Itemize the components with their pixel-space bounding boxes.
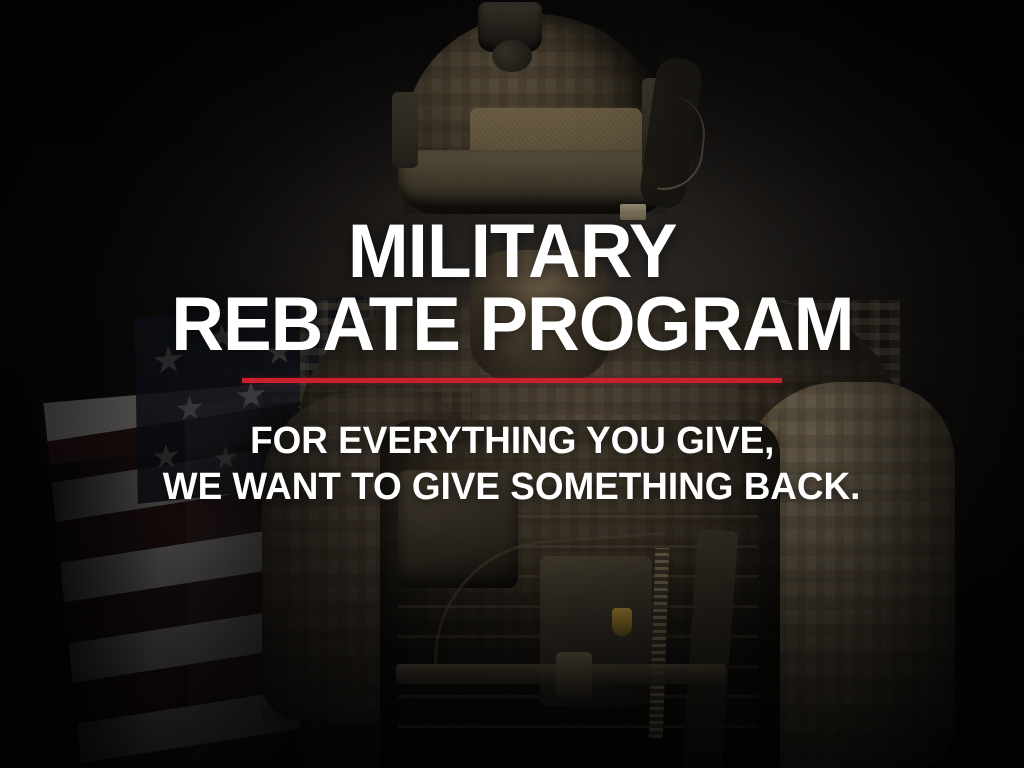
red-divider-rule — [242, 378, 782, 383]
headline-line-1: MILITARY — [348, 216, 677, 289]
headline-line-2: REBATE PROGRAM — [171, 289, 853, 362]
subheadline-line-2: WE WANT TO GIVE SOMETHING BACK. — [163, 465, 861, 509]
military-rebate-banner: MILITARY REBATE PROGRAM FOR EVERYTHING Y… — [0, 0, 1024, 768]
subheadline-line-1: FOR EVERYTHING YOU GIVE, — [250, 419, 774, 463]
text-overlay: MILITARY REBATE PROGRAM FOR EVERYTHING Y… — [0, 0, 1024, 768]
